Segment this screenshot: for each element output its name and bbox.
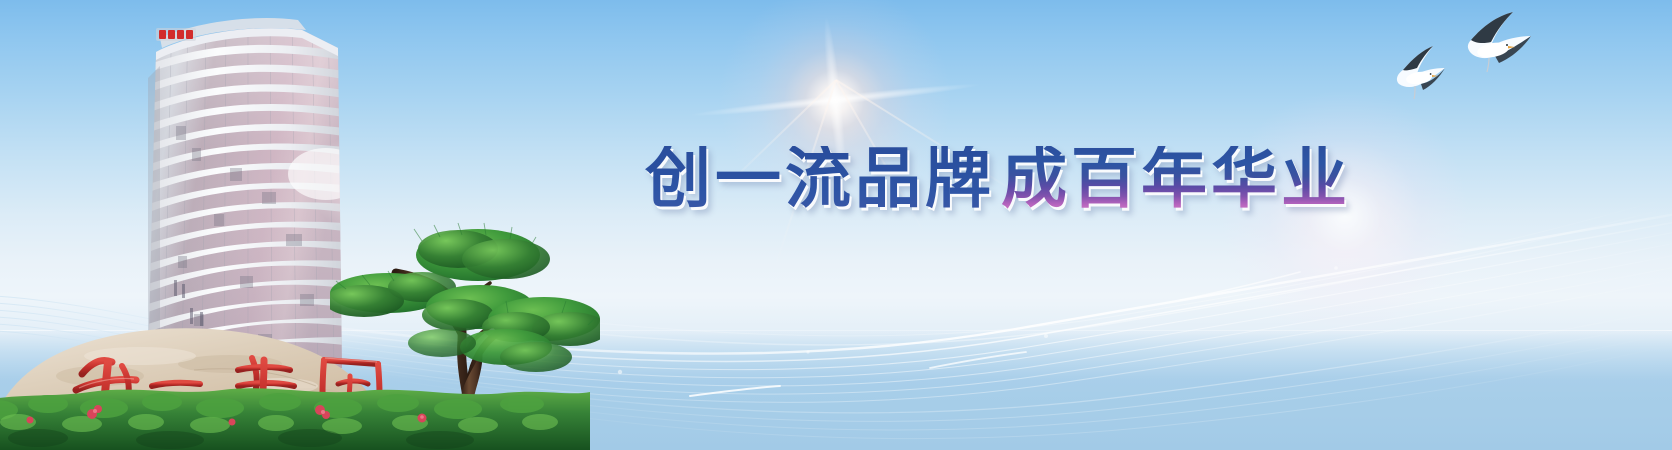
- banner-slogan: 创一流品牌 成百年华业: [645, 135, 1351, 223]
- seagull-icon: [1397, 46, 1445, 99]
- company-hero-banner: 创一流品牌 成百年华业: [0, 0, 1672, 450]
- slogan-part-2: 成百年华业: [1001, 146, 1351, 212]
- hedge-shrub-row: [0, 378, 590, 450]
- slogan-part-1: 创一流品牌: [645, 146, 995, 212]
- seagull-pair: [1375, 8, 1555, 113]
- seagull-icon: [1468, 12, 1531, 72]
- rooftop-sign: [156, 28, 196, 41]
